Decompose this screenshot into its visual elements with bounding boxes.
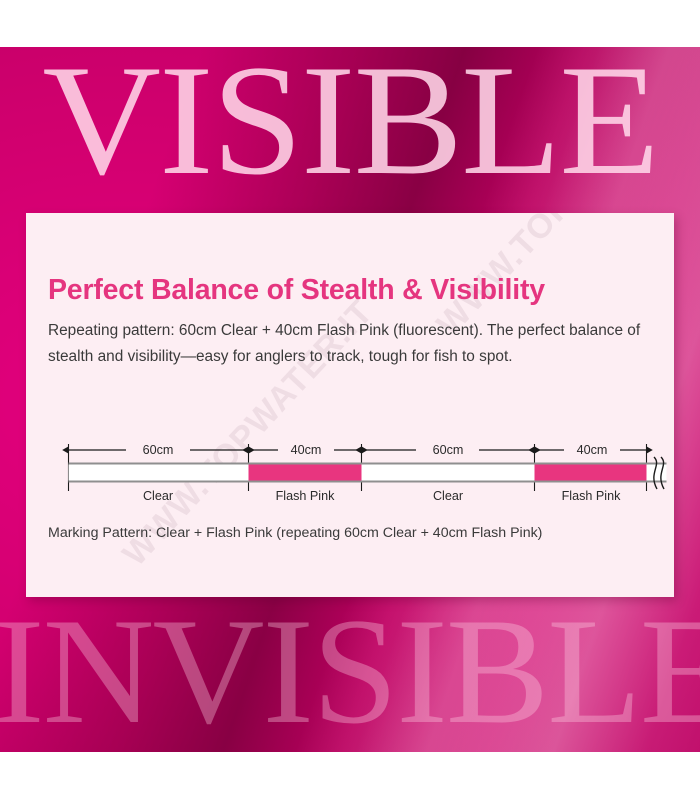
dimension-label-1: 60cm	[143, 443, 174, 457]
segment-label-2: Flash Pink	[276, 489, 335, 503]
diagram-svg: 60cm 40cm 60cm 40cm	[38, 443, 668, 505]
segment-label-3: Clear	[433, 489, 463, 503]
diagram-caption: Marking Pattern: Clear + Flash Pink (rep…	[48, 525, 542, 541]
segment-label-1: Clear	[143, 489, 173, 503]
marking-pattern-diagram: 60cm 40cm 60cm 40cm	[38, 443, 668, 505]
line-segment-flash-pink-2	[535, 464, 647, 482]
line-segment-flash-pink-1	[249, 464, 362, 482]
segment-label-4: Flash Pink	[562, 489, 621, 503]
card-title: Perfect Balance of Stealth & Visibility	[48, 274, 545, 307]
dimension-label-2: 40cm	[291, 443, 322, 457]
card-description: Repeating pattern: 60cm Clear + 40cm Fla…	[48, 318, 658, 369]
segment-name-labels: Clear Flash Pink Clear Flash Pink	[143, 489, 621, 503]
dimension-label-4: 40cm	[577, 443, 608, 457]
poster-stage: VISIBLE INVISIBLE WWW.TOPWATER.IT WWW.TO…	[0, 0, 700, 800]
content-card: WWW.TOPWATER.IT WWW.TOPWATER.IT Perfect …	[26, 213, 674, 597]
line-bar	[69, 464, 667, 482]
dimension-label-3: 60cm	[433, 443, 464, 457]
